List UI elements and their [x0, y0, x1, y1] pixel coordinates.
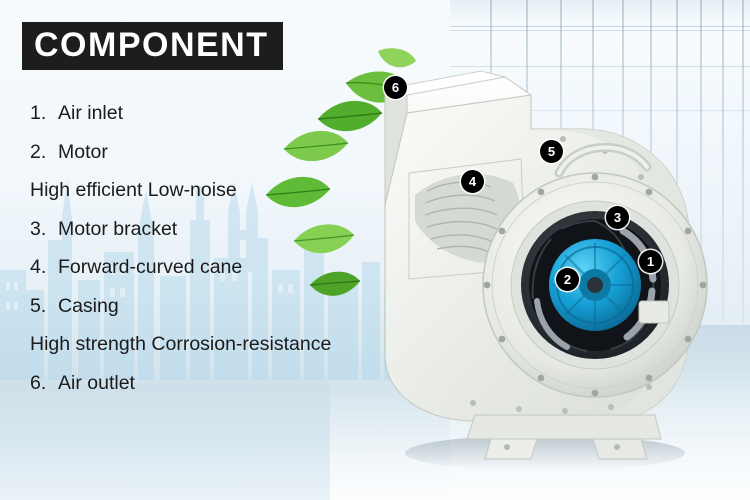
- list-item: 6.Air outlet: [30, 374, 430, 394]
- callout-badge-5: 5: [540, 140, 563, 163]
- list-item-label: High efficient Low-noise: [30, 179, 237, 201]
- list-item-number: 5.: [30, 297, 52, 317]
- component-spec-list: 1.Air inlet 2.Motor High efficient Low-n…: [30, 104, 430, 412]
- list-item: 3.Motor bracket: [30, 220, 430, 240]
- list-item-label: Motor bracket: [58, 218, 177, 240]
- page-title: COMPONENT: [22, 22, 283, 70]
- list-item-number: 2.: [30, 143, 52, 163]
- page-title-text: COMPONENT: [34, 26, 269, 64]
- list-item-number: 1.: [30, 104, 52, 124]
- list-item-number: 3.: [30, 220, 52, 240]
- callout-badge-3: 3: [606, 206, 629, 229]
- list-item-label: Casing: [58, 295, 119, 317]
- callout-badge-2: 2: [556, 268, 579, 291]
- list-item: 4.Forward-curved cane: [30, 258, 430, 278]
- list-item: 5.Casing: [30, 297, 430, 317]
- list-item-number: 6.: [30, 374, 52, 394]
- list-item-label: Air outlet: [58, 372, 135, 394]
- list-item-label: Air inlet: [58, 102, 123, 124]
- list-item: 2.Motor: [30, 143, 430, 163]
- list-item: High efficient Low-noise: [30, 181, 430, 201]
- callout-badge-6: 6: [384, 76, 407, 99]
- list-item-label: Motor: [58, 141, 108, 163]
- list-item: High strength Corrosion-resistance: [30, 335, 430, 355]
- list-item: 1.Air inlet: [30, 104, 430, 124]
- callout-badge-4: 4: [461, 170, 484, 193]
- product-component-diagram: COMPONENT 1.Air inlet 2.Motor High effic…: [0, 0, 750, 500]
- list-item-label: High strength Corrosion-resistance: [30, 333, 331, 355]
- list-item-label: Forward-curved cane: [58, 256, 242, 278]
- list-item-number: 4.: [30, 258, 52, 278]
- callout-badge-1: 1: [639, 250, 662, 273]
